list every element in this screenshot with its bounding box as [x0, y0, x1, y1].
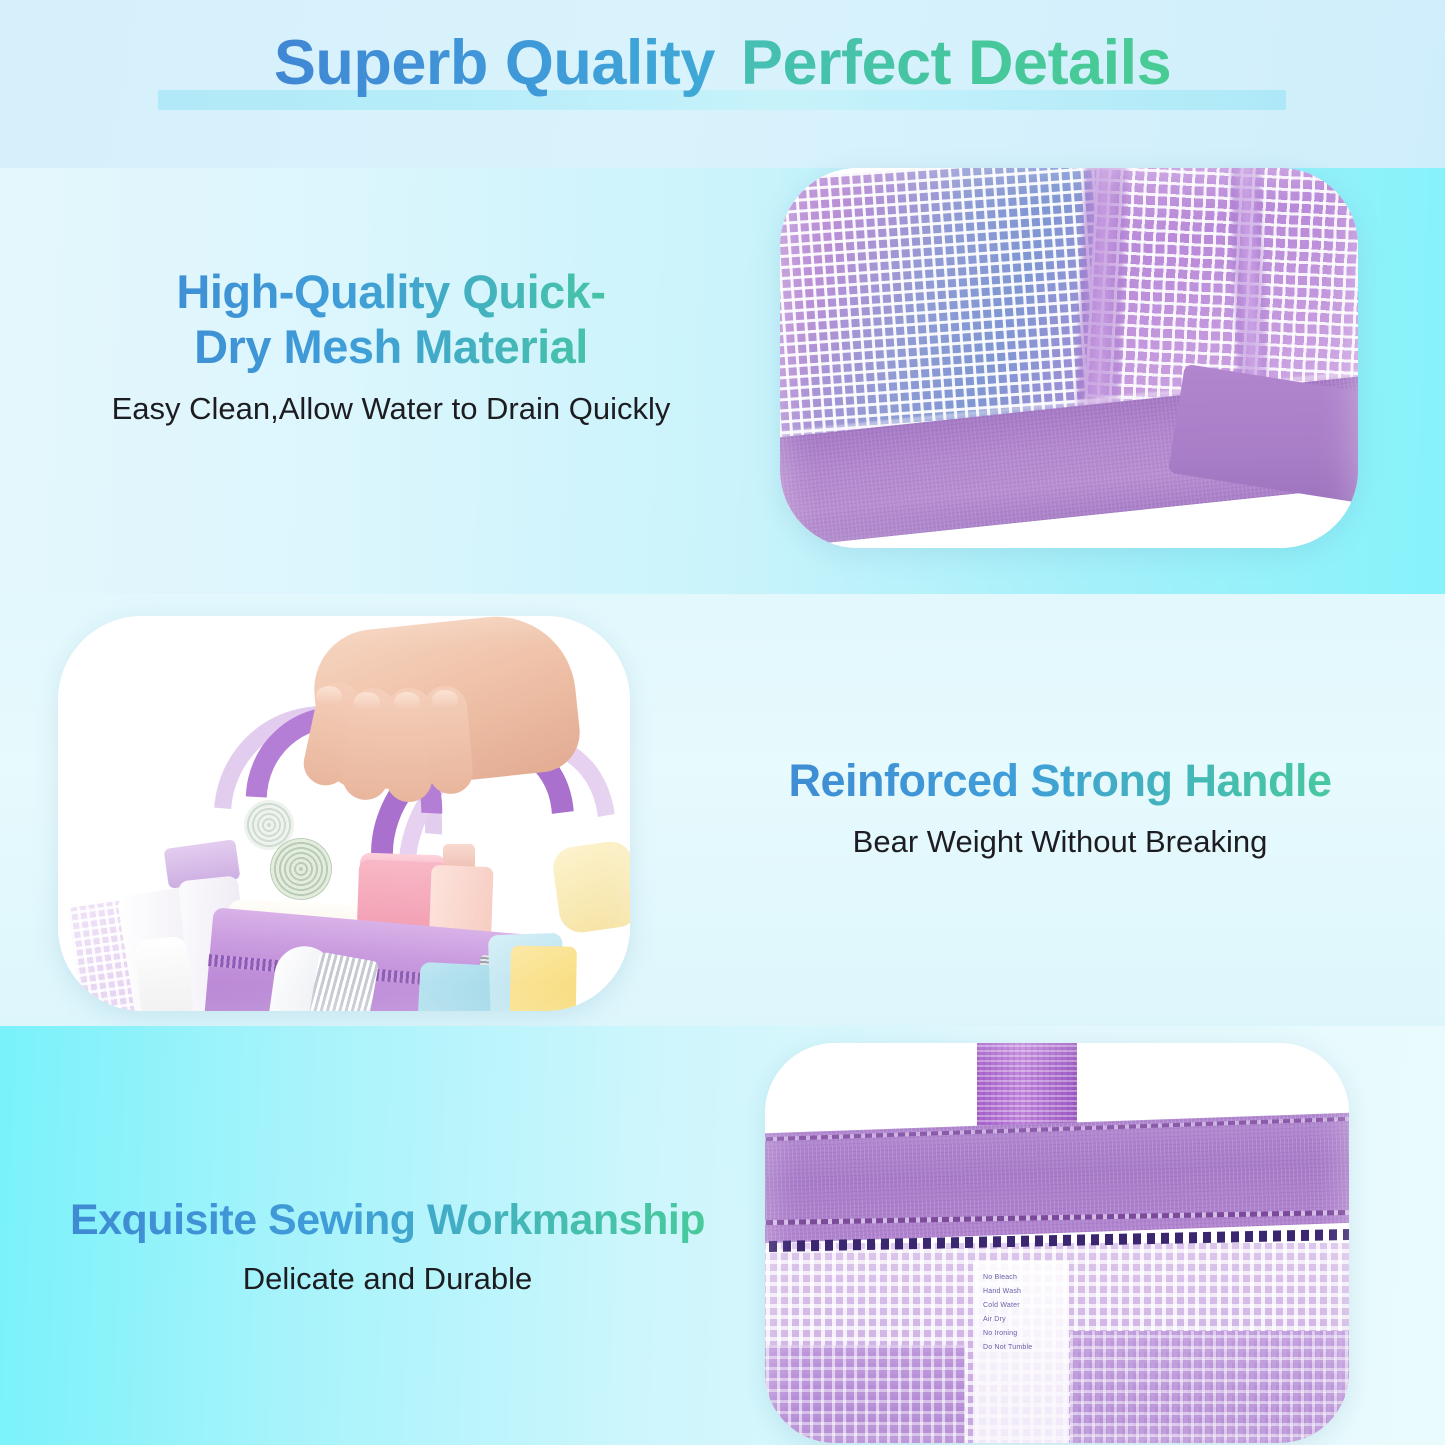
- care-label-line: Air Dry: [983, 1313, 1071, 1327]
- page-title: Superb QualityPerfect Details: [0, 30, 1445, 96]
- feature-image-strong-handle: [58, 616, 630, 1011]
- care-label-line: Do Not Tumble: [983, 1341, 1071, 1355]
- feature-headline: High-Quality Quick- Dry Mesh Material: [46, 265, 736, 375]
- feature-subline: Easy Clean,Allow Water to Drain Quickly: [46, 391, 736, 427]
- fabric-binding-band: [765, 1112, 1349, 1243]
- header-banner: Superb QualityPerfect Details: [0, 0, 1445, 168]
- towel-yellow: [509, 945, 577, 1011]
- towel-yellow: [550, 839, 630, 935]
- care-label-line: No Ironing: [983, 1327, 1071, 1341]
- care-label-line: Cold Water: [983, 1299, 1071, 1313]
- feature-image-sewing-workmanship: No Bleach Hand Wash Cold Water Air Dry N…: [765, 1043, 1349, 1443]
- feature-subline: Bear Weight Without Breaking: [700, 824, 1420, 860]
- title-part-one: Superb Quality: [274, 28, 715, 98]
- fingernail: [432, 690, 458, 710]
- mesh-shadow-left: [765, 1345, 965, 1443]
- fingernail: [354, 692, 380, 712]
- bottle-cap-white: [134, 936, 194, 1011]
- mesh-shadow-right: [1070, 1331, 1349, 1443]
- feature-text-quick-dry-mesh: High-Quality Quick- Dry Mesh Material Ea…: [46, 265, 736, 427]
- feature-text-sewing-workmanship: Exquisite Sewing Workmanship Delicate an…: [10, 1195, 765, 1297]
- feature-image-quick-dry-mesh: [780, 168, 1358, 548]
- mesh-photo: [780, 168, 1358, 548]
- feature-text-strong-handle: Reinforced Strong Handle Bear Weight Wit…: [700, 755, 1420, 860]
- feature-subline: Delicate and Durable: [10, 1261, 765, 1297]
- care-label-line: Hand Wash: [983, 1285, 1071, 1299]
- caddy-photo: [58, 616, 630, 1011]
- title-part-two: Perfect Details: [741, 28, 1171, 98]
- fingernail: [394, 692, 420, 712]
- feature-headline: Exquisite Sewing Workmanship: [10, 1195, 765, 1245]
- sewing-photo: No Bleach Hand Wash Cold Water Air Dry N…: [765, 1043, 1349, 1443]
- fingernail: [316, 686, 342, 706]
- care-label-text: No Bleach Hand Wash Cold Water Air Dry N…: [979, 1269, 1075, 1443]
- care-label-line: No Bleach: [983, 1271, 1071, 1285]
- infographic-page: Superb QualityPerfect Details High-Quali…: [0, 0, 1445, 1445]
- feature-headline: Reinforced Strong Handle: [700, 755, 1420, 808]
